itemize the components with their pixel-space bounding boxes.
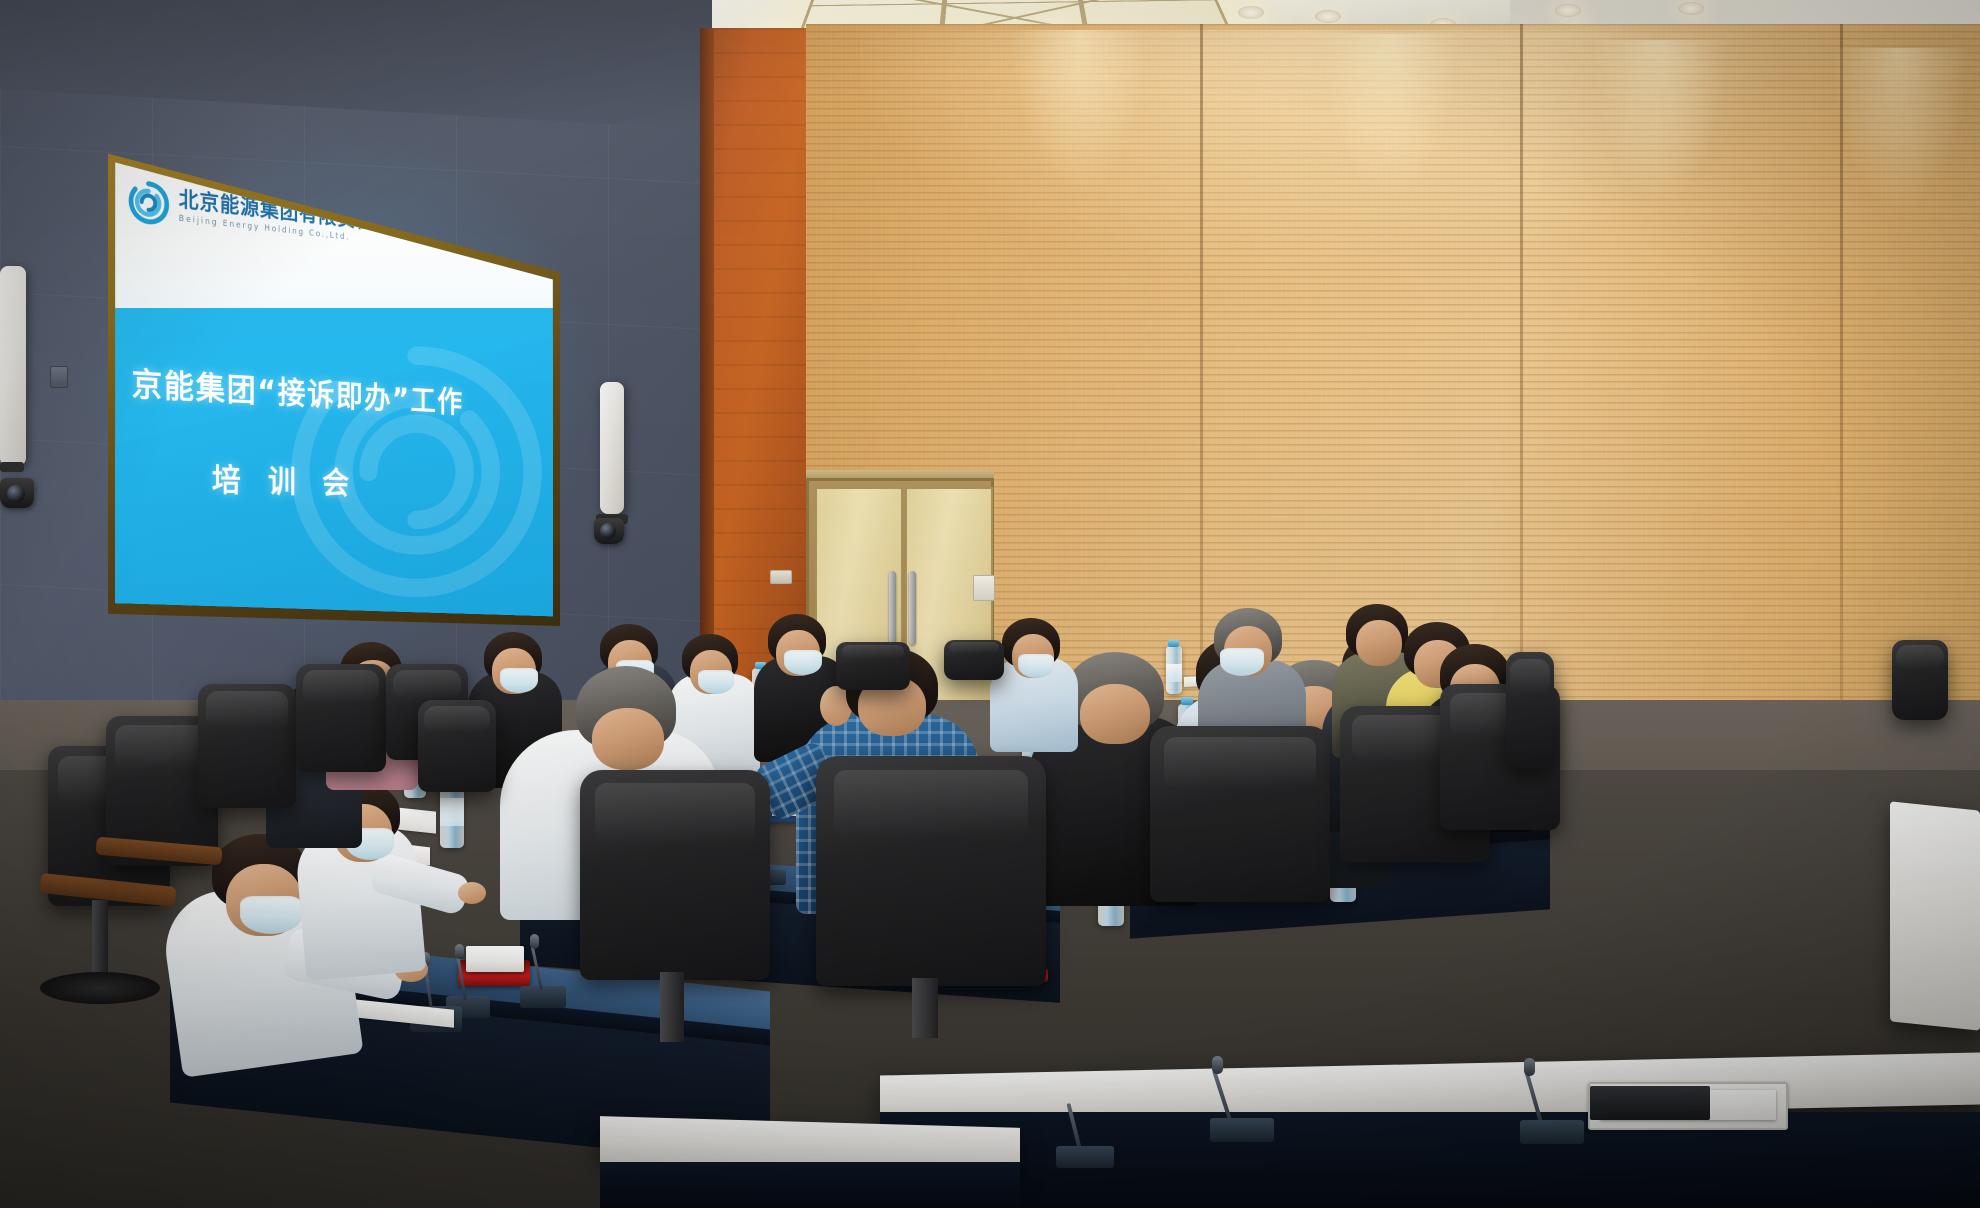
desk-microphone-base [520,986,566,1008]
bottle-label [1166,664,1182,682]
office-chair[interactable] [418,700,496,792]
swirl-logo-icon [127,178,170,228]
desk-microphone-head-icon [1524,1058,1535,1076]
wall-speaker [600,382,624,514]
projection-screen[interactable]: 北京能源集团有限责任公司 Beijing Energy Holding Co.,… [108,138,560,626]
door-handle-right[interactable] [909,571,916,645]
screen-surface: 北京能源集团有限责任公司 Beijing Energy Holding Co.,… [108,138,560,626]
attendee-head [592,708,664,770]
tablet-device[interactable] [1590,1086,1710,1120]
face-mask [784,650,822,675]
desk-nameplate-card [466,946,524,972]
conference-table-foreground [1890,801,1980,1030]
face-mask [500,668,538,693]
presentation-slide: 北京能源集团有限责任公司 Beijing Energy Holding Co.,… [108,138,560,626]
speaker-bracket [0,462,24,472]
attendee-head [1356,620,1402,666]
wall-light-wash [1800,48,1980,288]
office-chair[interactable] [296,664,386,772]
wall-light-wash [1560,40,1760,280]
office-chair[interactable] [816,756,1046,986]
wall-light-wash [980,30,1180,270]
recessed-downlight [1315,10,1341,23]
office-chair-post [660,972,684,1042]
attendee-head [1080,684,1150,744]
office-chair[interactable] [1506,652,1554,768]
ceiling-camera [594,518,624,544]
door-handle-left[interactable] [889,571,896,645]
ceiling-camera [0,478,34,508]
conference-table-edge [880,1112,1980,1208]
recessed-downlight [1555,4,1581,17]
desk-microphone-head-icon [530,934,539,949]
face-mask [698,670,734,694]
slide-title: 京能集团“接诉即办”工作 [132,358,464,422]
conference-table-edge [600,1162,1020,1208]
attendee-hand [458,882,486,904]
face-mask [1018,654,1054,678]
face-mask [1220,648,1264,676]
office-chair-base [40,972,160,1004]
office-chair[interactable] [944,640,1004,680]
wall-switch[interactable] [50,366,68,388]
conference-room-photo: 北京能源集团有限责任公司 Beijing Energy Holding Co.,… [0,0,1980,1208]
recessed-downlight [1678,2,1704,15]
desk-microphone-head-icon [1212,1056,1223,1074]
wall-light-wash [1290,34,1490,274]
bottle-label [440,798,464,826]
office-chair[interactable] [836,642,910,690]
wall-switch[interactable] [973,575,995,601]
office-chair[interactable] [1892,640,1948,720]
recessed-downlight [1238,6,1264,19]
desk-microphone-base [1056,1146,1114,1168]
camera-lens-icon [600,523,616,539]
slide-subtitle: 培 训 会 [212,455,357,504]
office-chair[interactable] [580,770,770,980]
desk-microphone-head-icon [455,944,464,959]
camera-lens-icon [7,485,25,503]
wall-speaker [0,266,26,466]
office-chair[interactable] [1150,726,1330,902]
office-chair[interactable] [198,684,296,808]
desk-microphone-base [1210,1118,1274,1142]
face-mask [240,896,302,934]
desk-microphone-base [1520,1120,1584,1144]
bottle-cap [1168,640,1179,647]
office-chair-post [912,978,938,1038]
water-bottle[interactable] [1166,646,1182,694]
wall-socket[interactable] [770,570,792,584]
slide-logo-row: 北京能源集团有限责任公司 Beijing Energy Holding Co.,… [127,178,410,254]
